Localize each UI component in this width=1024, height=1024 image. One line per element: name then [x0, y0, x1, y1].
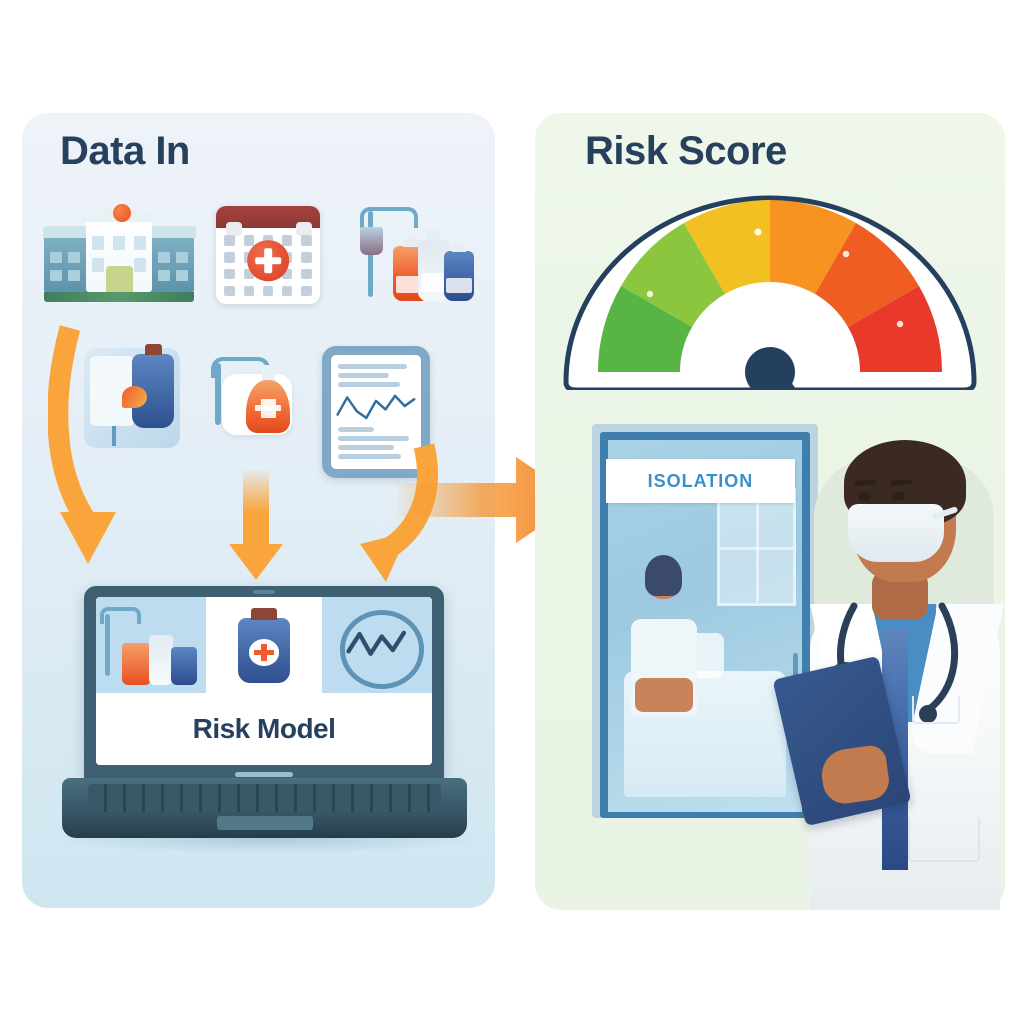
laptop-trackpad[interactable]	[217, 816, 313, 830]
medical-calendar-icon	[216, 206, 320, 304]
hospital-emblem-icon	[113, 204, 131, 222]
iv-medication-bottles-icon	[340, 198, 480, 308]
risk-score-gauge	[558, 190, 982, 390]
data-in-title: Data In	[60, 131, 190, 171]
room-window	[717, 488, 797, 606]
risk-model-laptop: Risk Model	[62, 586, 467, 856]
laptop-screen: Risk Model	[96, 597, 432, 765]
risk-model-label: Risk Model	[96, 693, 432, 765]
iv-medication-thumbnail	[96, 597, 206, 693]
flow-arrow-curve-left	[48, 322, 196, 582]
infographic-canvas: Data In	[0, 0, 1024, 1024]
webcam-icon	[253, 590, 275, 594]
trend-chart-thumbnail	[322, 597, 432, 693]
hospital-building-icon	[44, 202, 194, 302]
laptop-keyboard[interactable]	[88, 784, 441, 812]
medical-cross-icon	[247, 240, 289, 282]
isolation-sign: ISOLATION	[606, 459, 796, 502]
clinician-figure	[800, 418, 1010, 910]
laptop-base	[62, 778, 467, 838]
isolation-room: ISOLATION	[592, 424, 818, 818]
mini-trend-chart-icon	[336, 389, 416, 423]
risk-score-title: Risk Score	[585, 131, 787, 171]
isolation-sign-text: ISOLATION	[648, 471, 754, 492]
flow-arrow-down-center	[229, 470, 283, 580]
medicine-bottle-thumbnail	[209, 597, 319, 693]
face-mask-icon	[848, 504, 944, 562]
lab-flask-icon	[200, 344, 310, 450]
